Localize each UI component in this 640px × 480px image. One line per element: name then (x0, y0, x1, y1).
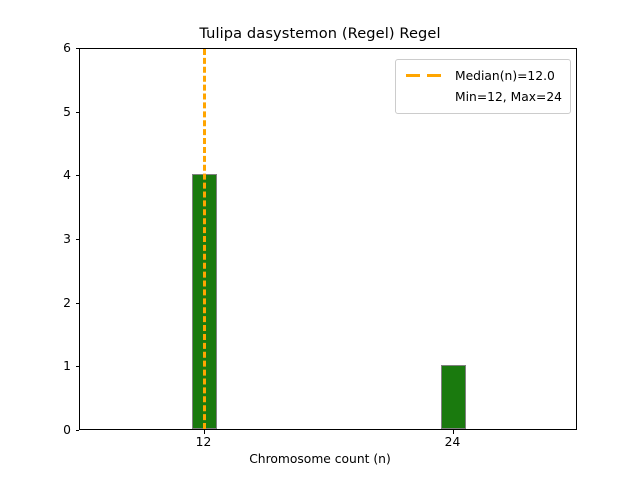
y-tick-label: 2 (31, 297, 71, 309)
x-tick-label: 12 (174, 436, 234, 449)
y-tick-label: 1 (31, 360, 71, 372)
y-tick-label: 5 (31, 106, 71, 118)
x-tick-mark (453, 430, 454, 434)
y-tick-label: 6 (31, 42, 71, 54)
y-tick-label: 0 (31, 424, 71, 436)
dashed-line-icon (404, 70, 446, 82)
bar (441, 365, 466, 429)
legend-item-minmax: Min=12, Max=24 (404, 86, 562, 107)
y-tick-mark (76, 430, 80, 431)
median-line (203, 49, 206, 429)
legend: Median(n)=12.0 Min=12, Max=24 (395, 59, 571, 114)
page-title: Tulipa dasystemon (Regel) Regel (0, 25, 640, 43)
legend-item-median: Median(n)=12.0 (404, 65, 562, 86)
x-axis-label: Chromosome count (n) (0, 452, 640, 466)
x-tick-mark (204, 430, 205, 434)
y-tick-label: 3 (31, 233, 71, 245)
x-tick-label: 24 (423, 436, 483, 449)
chart-figure: Tulipa dasystemon (Regel) Regel Num of c… (0, 0, 640, 480)
legend-item-median-label: Median(n)=12.0 (455, 69, 555, 83)
legend-item-minmax-label: Min=12, Max=24 (455, 90, 562, 104)
y-tick-label: 4 (31, 169, 71, 181)
